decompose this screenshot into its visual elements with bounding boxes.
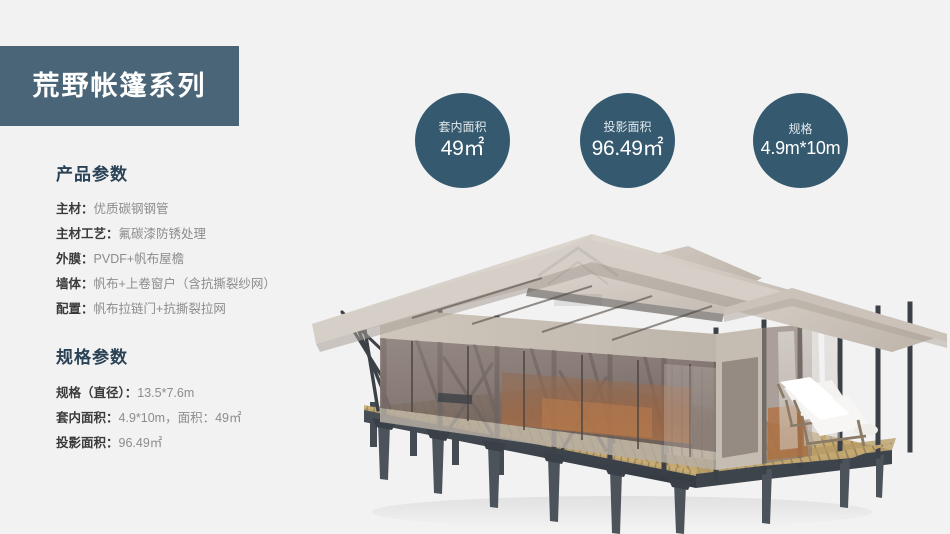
- spec-label: 墙体：: [56, 277, 94, 291]
- badge-interior-area[interactable]: 套内面积 49㎡: [415, 93, 510, 188]
- spec-value: 优质碳钢钢管: [94, 202, 169, 216]
- spec-value: 13.5*7.6m: [137, 386, 194, 400]
- badge-label: 规格: [788, 123, 812, 136]
- badge-label: 套内面积: [438, 121, 486, 134]
- spec-label: 外膜：: [56, 252, 94, 266]
- badge-dimensions[interactable]: 规格 4.9m*10m: [753, 93, 848, 188]
- gable-end-glazing: [722, 357, 758, 458]
- slide-root: 荒野帐篷系列 产品参数 主材：优质碳钢钢管 主材工艺：氟碳漆防锈处理 外膜：PV…: [0, 0, 950, 534]
- spec-label: 规格（直径）：: [56, 386, 137, 400]
- spec-value: 96.49㎡: [119, 436, 163, 450]
- badge-value: 96.49㎡: [592, 138, 664, 160]
- spec-value: PVDF+帆布屋檐: [94, 252, 185, 266]
- spec-label: 投影面积：: [56, 436, 119, 450]
- spec-value: 氟碳漆防锈处理: [119, 227, 207, 241]
- title-banner: 荒野帐篷系列: [0, 46, 239, 126]
- spec-value: 帆布拉链门+抗撕裂拉网: [94, 302, 226, 316]
- spec-value: 帆布+上卷窗户（含抗撕裂纱网）: [94, 277, 276, 291]
- badge-label: 投影面积: [603, 121, 651, 134]
- spec-label: 主材工艺：: [56, 227, 119, 241]
- tent-villa-illustration: [292, 212, 950, 534]
- spec-value: 4.9*10m，面积：49㎡: [119, 411, 242, 425]
- page-title: 荒野帐篷系列: [33, 73, 207, 100]
- spec-label: 主材：: [56, 202, 94, 216]
- badge-value: 4.9m*10m: [761, 139, 841, 158]
- spec-label: 配置：: [56, 302, 94, 316]
- spec-label: 套内面积：: [56, 411, 119, 425]
- product-render: [292, 212, 950, 534]
- badge-value: 49㎡: [441, 138, 484, 160]
- badge-projected-area[interactable]: 投影面积 96.49㎡: [580, 93, 675, 188]
- product-params-heading: 产品参数: [56, 165, 356, 185]
- ground-shadow: [372, 496, 872, 528]
